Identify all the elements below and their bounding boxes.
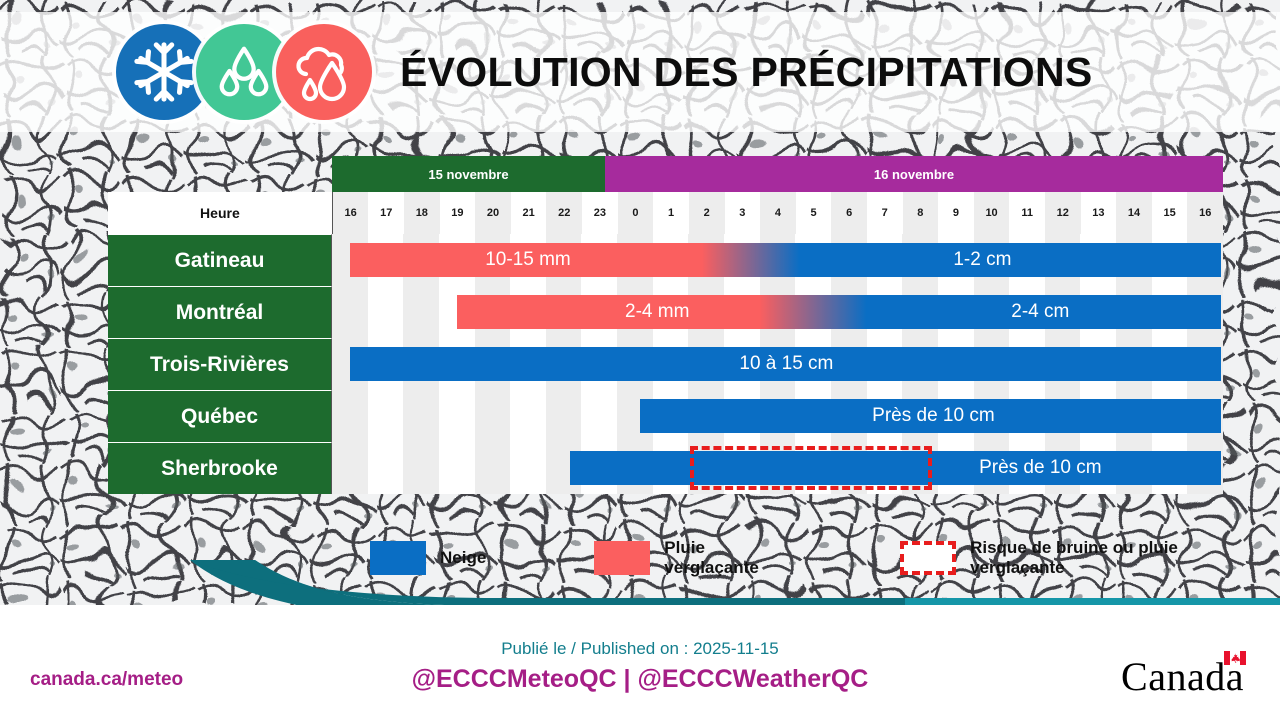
track-cell	[368, 442, 404, 494]
hour-cell: 17	[368, 192, 404, 234]
hour-cells: 1617181920212223012345678910111213141516	[333, 192, 1223, 234]
hour-cell: 21	[511, 192, 547, 234]
hour-cell: 5	[796, 192, 832, 234]
hour-label: Heure	[108, 192, 333, 234]
hour-cell: 13	[1081, 192, 1117, 234]
precipitation-bar: 2-4 mm2-4 cm	[457, 295, 1221, 329]
city-label: Montréal	[108, 286, 332, 338]
page-title: ÉVOLUTION DES PRÉCIPITATIONS	[400, 49, 1093, 96]
date-header-15: 15 novembre	[332, 156, 605, 192]
social-handles[interactable]: @ECCCMeteoQC | @ECCCWeatherQC	[0, 665, 1280, 694]
track-cell	[475, 390, 511, 442]
bar-value-label: Près de 10 cm	[872, 405, 995, 427]
track-cell	[439, 442, 475, 494]
hour-cell: 7	[867, 192, 903, 234]
footer: canada.ca/meteo Publié le / Published on…	[0, 605, 1280, 720]
hour-header-row: Heure 1617181920212223012345678910111213…	[108, 192, 1223, 234]
city-rows: Gatineau10-15 mm1-2 cmMontréal2-4 mm2-4 …	[108, 234, 1223, 494]
hour-cell: 6	[831, 192, 867, 234]
track-cell	[475, 442, 511, 494]
track-cell	[510, 442, 546, 494]
snowflake-glyph	[133, 41, 195, 103]
hour-cell: 20	[475, 192, 511, 234]
hour-cell: 16	[1187, 192, 1223, 234]
hour-cell: 22	[546, 192, 582, 234]
bar-value-label: Près de 10 cm	[979, 457, 1102, 479]
hour-cell: 15	[1152, 192, 1188, 234]
hour-cell: 0	[618, 192, 654, 234]
precipitation-table: 15 novembre 16 novembre Heure 1617181920…	[108, 156, 1223, 501]
track-cell	[546, 390, 582, 442]
city-label: Trois-Rivières	[108, 338, 332, 390]
hour-cell: 18	[404, 192, 440, 234]
date-header-16: 16 novembre	[605, 156, 1223, 192]
timeline-track: 2-4 mm2-4 cm	[332, 286, 1223, 338]
canada-flag-icon	[1224, 651, 1246, 665]
hour-cell: 3	[725, 192, 761, 234]
table-row: Gatineau10-15 mm1-2 cm	[108, 234, 1223, 286]
track-cell	[439, 390, 475, 442]
hour-cell: 23	[582, 192, 618, 234]
city-label: Gatineau	[108, 234, 332, 286]
hour-cell: 14	[1116, 192, 1152, 234]
track-cell	[403, 442, 439, 494]
track-cell	[332, 442, 368, 494]
city-label: Sherbrooke	[108, 442, 332, 494]
published-date: Publié le / Published on : 2025-11-15	[0, 639, 1280, 659]
track-cell	[368, 390, 404, 442]
hour-cell: 12	[1045, 192, 1081, 234]
timeline-track: Près de 10 cm	[332, 390, 1223, 442]
bar-value-label: 2-4 cm	[1011, 301, 1069, 323]
hour-cell: 16	[333, 192, 369, 234]
hour-cell: 19	[440, 192, 476, 234]
track-cell	[403, 390, 439, 442]
bar-value-label: 2-4 mm	[625, 301, 689, 323]
track-cell	[403, 286, 439, 338]
bar-value-label: 10 à 15 cm	[739, 353, 833, 375]
bar-value-label: 10-15 mm	[485, 249, 571, 271]
timeline-track: Près de 10 cm	[332, 442, 1223, 494]
hour-cell: 2	[689, 192, 725, 234]
track-cell	[510, 390, 546, 442]
hour-cell: 11	[1009, 192, 1045, 234]
freezing-rain-cloud-icon	[276, 24, 372, 120]
timeline-track: 10-15 mm1-2 cm	[332, 234, 1223, 286]
header: ÉVOLUTION DES PRÉCIPITATIONS	[0, 12, 1280, 132]
city-label: Québec	[108, 390, 332, 442]
table-row: Montréal2-4 mm2-4 cm	[108, 286, 1223, 338]
precipitation-bar: 10-15 mm1-2 cm	[350, 243, 1221, 277]
date-header-row: 15 novembre 16 novembre	[332, 156, 1223, 192]
precipitation-bar: 10 à 15 cm	[350, 347, 1221, 381]
hour-cell: 10	[974, 192, 1010, 234]
timeline-track: 10 à 15 cm	[332, 338, 1223, 390]
track-cell	[581, 390, 617, 442]
raindrops-glyph	[213, 41, 275, 103]
table-row: Trois-Rivières10 à 15 cm	[108, 338, 1223, 390]
bar-value-label: 1-2 cm	[953, 249, 1011, 271]
table-row: QuébecPrès de 10 cm	[108, 390, 1223, 442]
hour-cell: 8	[903, 192, 939, 234]
table-row: SherbrookePrès de 10 cm	[108, 442, 1223, 494]
hour-cell: 9	[938, 192, 974, 234]
hour-cell: 4	[760, 192, 796, 234]
precipitation-bar: Près de 10 cm	[640, 399, 1221, 433]
track-cell	[368, 286, 404, 338]
hour-cell: 1	[653, 192, 689, 234]
track-cell	[332, 286, 368, 338]
freezing-rain-glyph	[292, 40, 356, 104]
track-cell	[332, 390, 368, 442]
precipitation-bar: Près de 10 cm	[570, 451, 1221, 485]
